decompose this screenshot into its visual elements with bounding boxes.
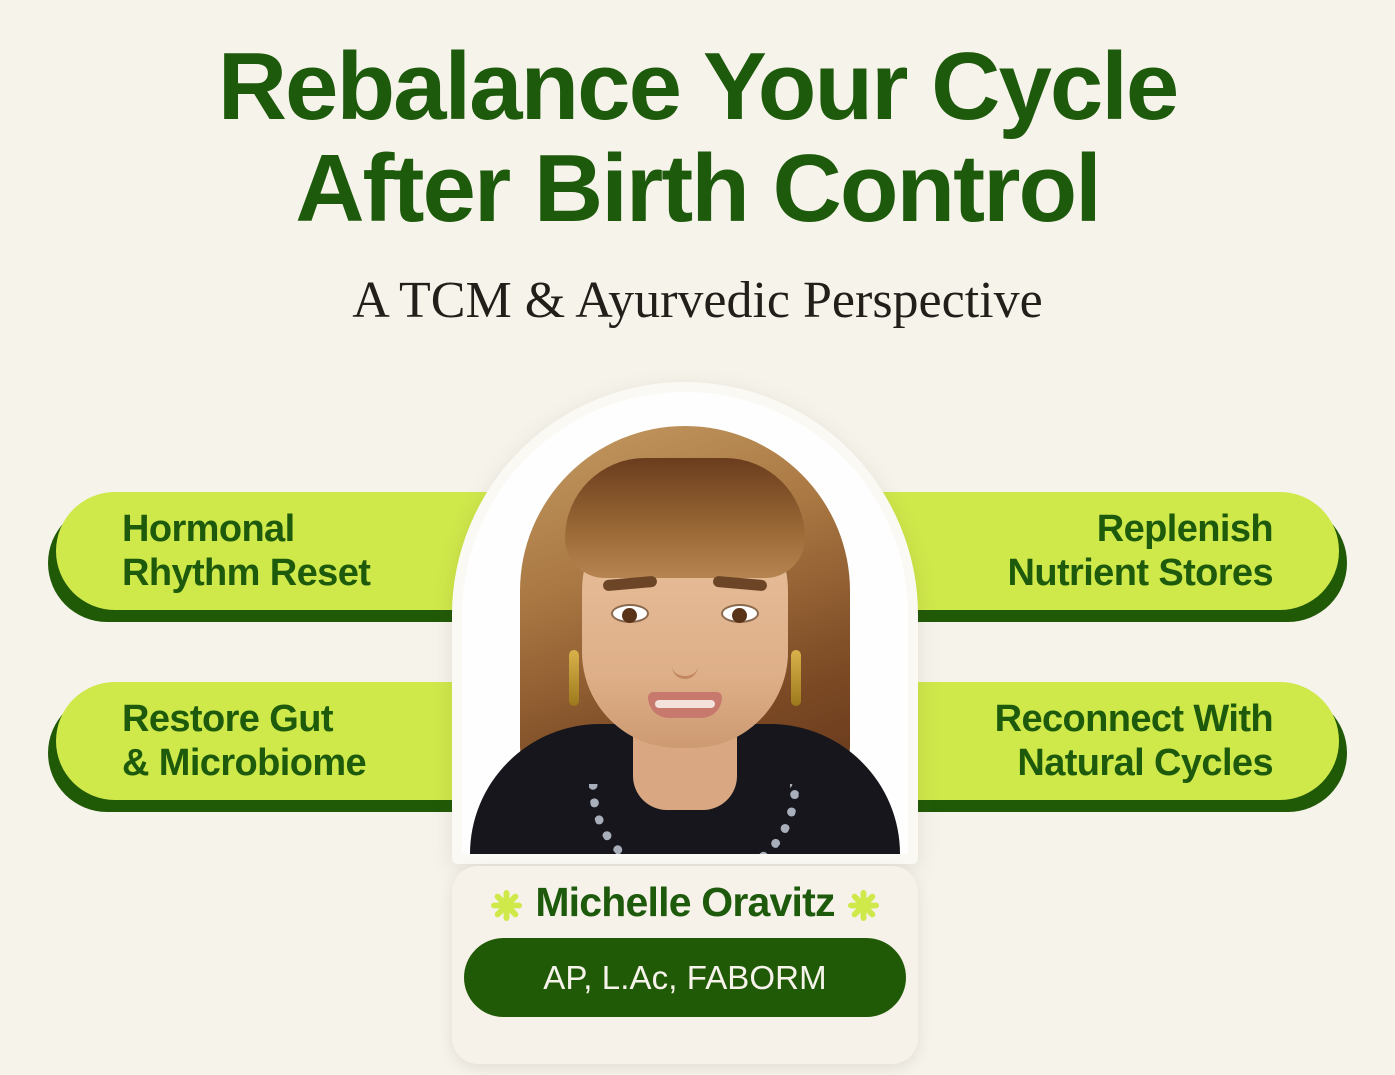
portrait-hair-front <box>565 458 805 578</box>
benefit-pill-label: Hormonal Rhythm Reset <box>122 507 370 595</box>
portrait-pupil-left <box>622 608 637 623</box>
page-title: Rebalance Your Cycle After Birth Control <box>0 36 1395 240</box>
speaker-name-card: Michelle Oravitz AP, L.Ac, FABORM <box>452 866 918 1064</box>
portrait-pupil-right <box>732 608 747 623</box>
speaker-name-row: Michelle Oravitz <box>491 882 878 923</box>
speaker-portrait-frame <box>452 382 918 864</box>
benefit-pill-label: Restore Gut & Microbiome <box>122 697 366 785</box>
portrait-nose <box>672 640 698 679</box>
portrait-earring-left <box>569 650 579 706</box>
title-line-1: Rebalance Your Cycle <box>218 33 1178 140</box>
benefit-pill-label: Reconnect With Natural Cycles <box>995 697 1273 785</box>
portrait-mouth <box>648 692 722 718</box>
portrait-necklace <box>589 784 799 854</box>
page-subtitle: A TCM & Ayurvedic Perspective <box>0 272 1395 329</box>
sparkle-asterisk-icon <box>848 887 879 918</box>
sparkle-asterisk-icon <box>491 887 522 918</box>
speaker-portrait-photo <box>462 392 908 854</box>
speaker-credentials-badge: AP, L.Ac, FABORM <box>464 938 906 1017</box>
header: Rebalance Your Cycle After Birth Control <box>0 36 1395 240</box>
promo-banner: Rebalance Your Cycle After Birth Control… <box>0 0 1395 1075</box>
title-line-2: After Birth Control <box>0 138 1395 240</box>
portrait-earring-right <box>791 650 801 706</box>
benefit-pill-label: Replenish Nutrient Stores <box>1008 507 1273 595</box>
speaker-name: Michelle Oravitz <box>535 882 834 923</box>
